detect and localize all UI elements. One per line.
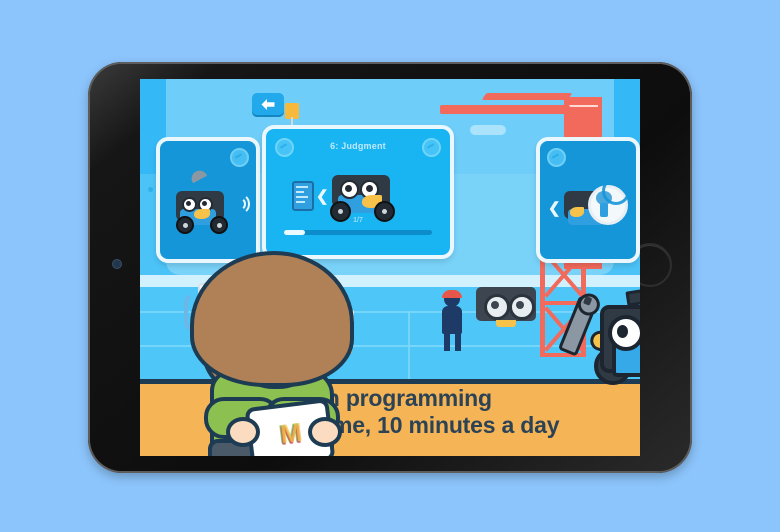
level-card-title: 6: Judgment [266, 141, 450, 151]
level-card-current[interactable]: 6: Judgment ❮ 1/7 [262, 125, 454, 259]
code-block-icon [292, 181, 314, 211]
crane-jib [440, 105, 570, 114]
floor-grid-line [408, 311, 410, 385]
level-progress-bar [284, 230, 432, 235]
back-button[interactable] [252, 93, 284, 115]
mascot-eye [608, 315, 640, 351]
tablet-device: 6: Judgment ❮ 1/7 [88, 62, 692, 473]
page-indicator-dot[interactable] [148, 187, 153, 192]
child-hair [190, 251, 354, 387]
level-progress-fill [284, 230, 305, 235]
robot-with-satellite-dish [170, 183, 250, 235]
front-camera-icon [113, 260, 121, 268]
tablet-screen: 6: Judgment ❮ 1/7 [140, 79, 640, 456]
robot-mascot-with-graduation-cap: < [570, 279, 640, 389]
signal-wave-icon [228, 193, 250, 215]
level-progress-label: 1/7 [266, 217, 450, 224]
gear-icon [547, 148, 566, 167]
screenshot-stage: 6: Judgment ❮ 1/7 [0, 0, 780, 532]
gear-icon [230, 148, 249, 167]
child-with-tablet: MMMM [190, 251, 390, 456]
child-hand [226, 417, 260, 447]
arrow-left-icon [260, 98, 276, 111]
person-cap [442, 290, 462, 298]
robot-head-prop [476, 287, 536, 321]
level-card-previous[interactable] [156, 137, 260, 263]
satellite-dish-icon [189, 168, 207, 183]
robot-with-code-block: ❮ [292, 171, 422, 221]
person-lifting-robot-head [440, 291, 470, 351]
person-body [442, 306, 462, 334]
child-hand [308, 417, 342, 447]
robot-chin [496, 320, 516, 327]
crane-jib-upper [482, 93, 573, 100]
cloud-icon [470, 125, 506, 135]
graduation-cap-icon [625, 278, 640, 306]
app-logo-m: MMMM [278, 420, 303, 448]
loading-spinner [602, 177, 630, 205]
